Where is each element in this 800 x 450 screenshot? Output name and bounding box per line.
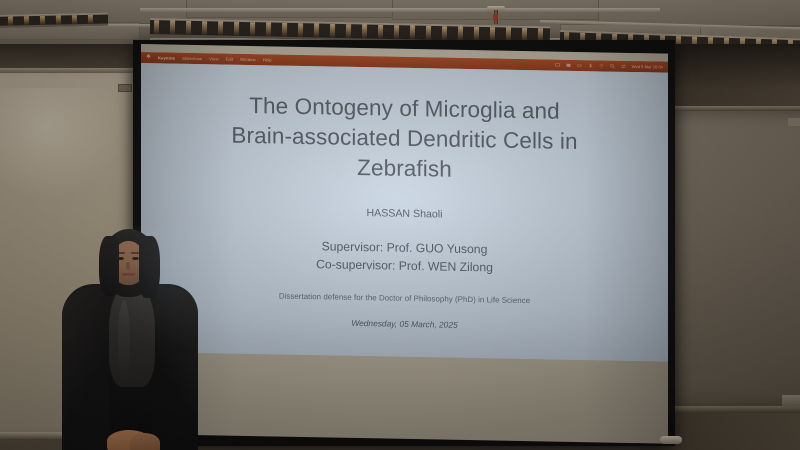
projection-screen-hanger <box>660 436 682 444</box>
battery-icon[interactable] <box>577 63 582 68</box>
control-center-icon[interactable] <box>621 64 626 69</box>
projection-screen-surface: ❖ Keynote Slideshow View Edit Window Hel… <box>141 44 668 444</box>
whiteboard-left-top-rail <box>0 68 138 73</box>
menu-item-help[interactable]: Help <box>263 57 272 62</box>
whiteboard-right-marker-tray <box>672 406 800 413</box>
whiteboard-right-top-rail <box>672 106 800 111</box>
lecture-room-photo: ❖ Keynote Slideshow View Edit Window Hel… <box>0 0 800 450</box>
menu-item-edit[interactable]: Edit <box>226 57 234 62</box>
whiteboard-left-glare <box>0 88 124 198</box>
apple-menu-icon[interactable]: ❖ <box>146 55 151 61</box>
display-icon[interactable] <box>566 63 571 68</box>
bluetooth-icon[interactable] <box>588 63 593 68</box>
menu-item-view[interactable]: View <box>209 56 218 61</box>
menu-bar-clock[interactable]: Wed 5 Mar 10:04 <box>632 64 663 70</box>
whiteboard-right-eraser <box>782 395 800 408</box>
whiteboard-left-marker-tray <box>0 432 140 439</box>
ceiling-rail <box>140 8 660 12</box>
slide-content: The Ontogeny of Microglia and Brain-asso… <box>141 63 668 362</box>
whiteboard-right-clip <box>788 118 800 126</box>
wifi-icon[interactable] <box>599 63 604 68</box>
air-vent-grille <box>0 12 108 28</box>
projected-slide: ❖ Keynote Slideshow View Edit Window Hel… <box>141 52 668 362</box>
screen-mirroring-icon[interactable] <box>555 63 560 68</box>
slide-author: HASSAN Shaoli <box>141 203 668 225</box>
menu-item-app-name[interactable]: Keynote <box>158 55 175 60</box>
menu-item-window[interactable]: Window <box>240 57 255 62</box>
whiteboard-left-clip <box>118 84 132 92</box>
search-icon[interactable] <box>610 64 615 69</box>
menu-bar-status-group: Wed 5 Mar 10:04 <box>555 63 663 70</box>
whiteboard-right <box>672 110 800 410</box>
menu-item-slideshow[interactable]: Slideshow <box>182 56 202 61</box>
fire-sprinkler-bulb <box>493 14 498 21</box>
slide-occasion: Dissertation defense for the Doctor of P… <box>141 289 668 308</box>
slide-title: The Ontogeny of Microglia and Brain-asso… <box>141 89 668 188</box>
slide-supervisors: Supervisor: Prof. GUO Yusong Co-supervis… <box>141 234 668 280</box>
slide-date: Wednesday, 05 March, 2025 <box>141 314 668 334</box>
